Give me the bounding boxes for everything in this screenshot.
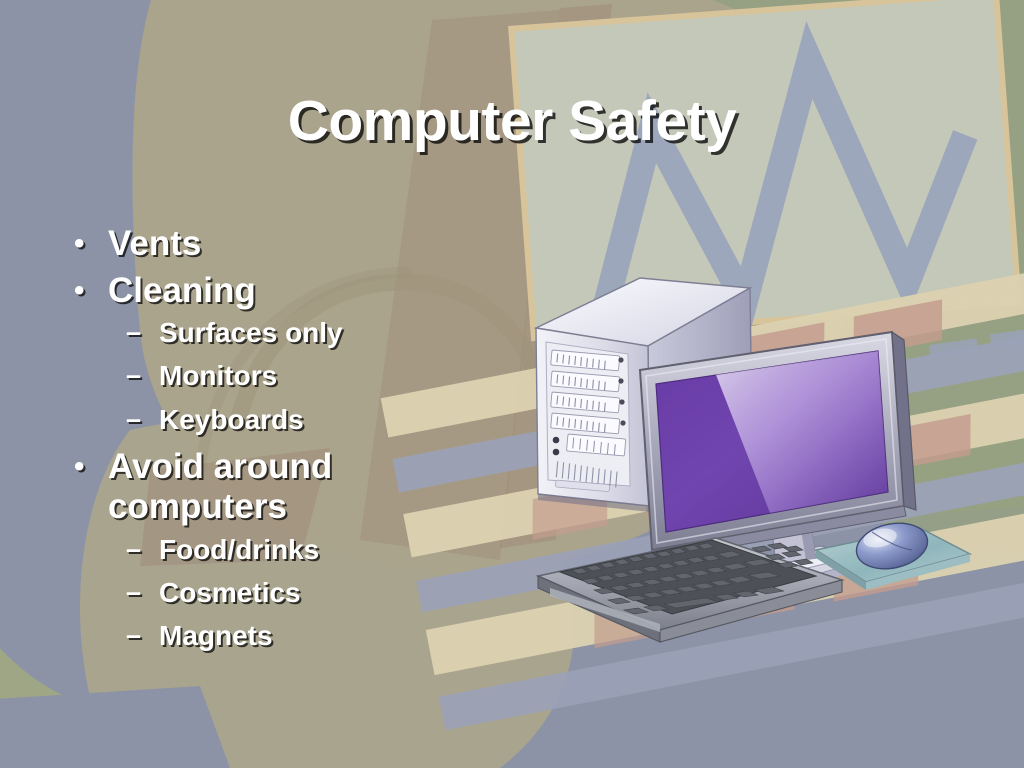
bullet-item-vents: • Vents bbox=[74, 224, 494, 265]
slide-body-content: • Vents • Cleaning – Surfaces only – Mon… bbox=[74, 224, 494, 664]
bullet-marker-dot-icon: • bbox=[74, 447, 108, 486]
sub-bullet-item-food-drinks: – Food/drinks bbox=[126, 534, 494, 566]
bullet-item-cleaning: • Cleaning bbox=[74, 271, 494, 312]
sub-bullet-label: Surfaces only bbox=[159, 317, 494, 349]
desktop-computer-image bbox=[520, 258, 980, 658]
bullet-marker-dash-icon: – bbox=[126, 577, 159, 608]
bullet-marker-dash-icon: – bbox=[126, 360, 159, 391]
slide-title: Computer Safety bbox=[0, 92, 1024, 152]
bullet-label: Vents bbox=[108, 224, 494, 265]
bullet-marker-dash-icon: – bbox=[126, 404, 159, 435]
bullet-marker-dot-icon: • bbox=[74, 271, 108, 310]
sub-bullet-label: Monitors bbox=[159, 360, 494, 392]
sub-bullet-label: Magnets bbox=[159, 620, 494, 652]
sub-bullet-item-magnets: – Magnets bbox=[126, 620, 494, 652]
title-text: Computer Safety bbox=[288, 92, 737, 152]
bullet-marker-dash-icon: – bbox=[126, 317, 159, 348]
bullet-item-avoid-around-computers: • Avoid around computers bbox=[74, 447, 494, 528]
sub-bullet-item-keyboards: – Keyboards bbox=[126, 404, 494, 436]
bullet-marker-dash-icon: – bbox=[126, 620, 159, 651]
sub-bullet-item-monitors: – Monitors bbox=[126, 360, 494, 392]
sub-bullet-label: Food/drinks bbox=[159, 534, 494, 566]
bullet-marker-dash-icon: – bbox=[126, 534, 159, 565]
sub-bullet-label: Keyboards bbox=[159, 404, 494, 436]
presentation-slide: Computer Safety • Vents • Cleaning – Sur… bbox=[0, 0, 1024, 768]
bullet-marker-dot-icon: • bbox=[74, 224, 108, 263]
bullet-label: Avoid around computers bbox=[108, 447, 494, 528]
sub-bullet-item-cosmetics: – Cosmetics bbox=[126, 577, 494, 609]
sub-bullet-label: Cosmetics bbox=[159, 577, 494, 609]
sub-bullet-item-surfaces-only: – Surfaces only bbox=[126, 317, 494, 349]
bullet-label: Cleaning bbox=[108, 271, 494, 312]
